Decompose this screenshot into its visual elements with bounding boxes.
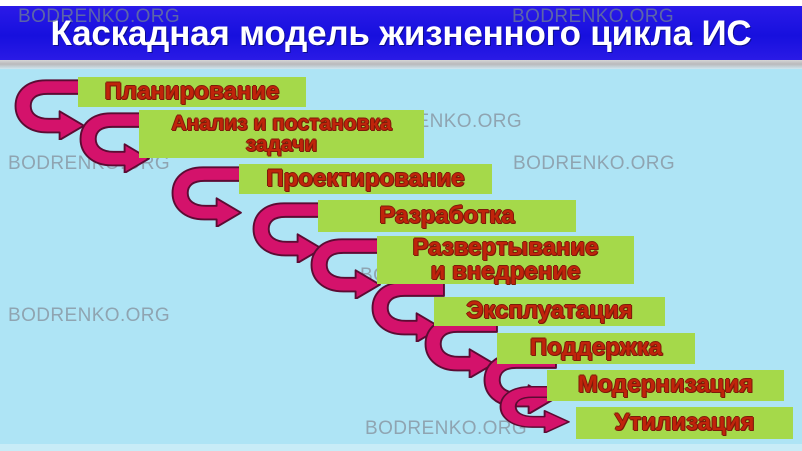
- stage-label: Анализ и постановка задачи: [171, 113, 391, 156]
- title-under-band: [0, 60, 802, 69]
- watermark-text: BODRENKO.ORG: [8, 305, 170, 327]
- stage-label: Разработка: [379, 204, 514, 228]
- stage-box-5[interactable]: Развертывание и внедрение: [377, 236, 634, 284]
- watermark-text: BODRENKO.ORG: [512, 6, 674, 28]
- stage-box-9[interactable]: Утилизация: [576, 407, 793, 439]
- stage-label: Развертывание и внедрение: [412, 236, 598, 285]
- stage-box-8[interactable]: Модернизация: [547, 370, 784, 401]
- watermark-text: BODRENKO.ORG: [513, 153, 675, 175]
- stage-box-6[interactable]: Эксплуатация: [434, 297, 665, 326]
- stage-box-7[interactable]: Поддержка: [497, 333, 695, 364]
- stage-label: Проектирование: [266, 167, 464, 191]
- stage-label: Эксплуатация: [466, 299, 633, 323]
- stage-box-3[interactable]: Проектирование: [239, 164, 492, 194]
- stage-label: Модернизация: [578, 373, 753, 397]
- stage-label: Планирование: [105, 80, 280, 104]
- stage-label: Поддержка: [530, 336, 662, 360]
- watermark-text: BODRENKO.ORG: [18, 6, 180, 28]
- stage-box-1[interactable]: Планирование: [78, 77, 306, 107]
- watermark-text: BODRENKO.ORG: [365, 418, 527, 440]
- stage-box-2[interactable]: Анализ и постановка задачи: [139, 110, 424, 158]
- stage-label: Утилизация: [615, 411, 755, 435]
- stage-box-4[interactable]: Разработка: [318, 200, 576, 232]
- bottom-edge-band: [0, 444, 802, 451]
- slide-canvas: Каскадная модель жизненного цикла ИС BOD…: [0, 0, 802, 451]
